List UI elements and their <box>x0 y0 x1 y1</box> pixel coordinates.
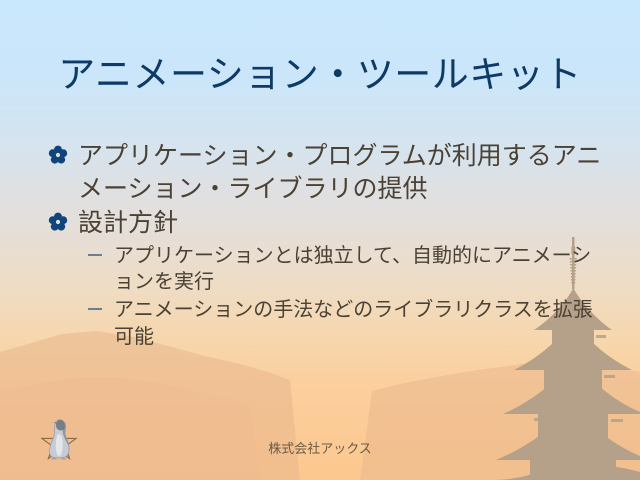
bullet-item-level2: アプリケーションとは独立して、自動的にアニメーションを実行 <box>46 242 602 295</box>
bullet-item-level2: アニメーションの手法などのライブラリクラスを拡張可能 <box>46 296 602 349</box>
bullet-text: アプリケーション・プログラムが利用するアニメーション・ライブラリの提供 <box>78 140 602 205</box>
slide-title: アニメーション・ツールキット <box>40 54 600 97</box>
penguin-star-logo <box>16 412 102 474</box>
bullet-item-level1: 設計方針 <box>46 207 602 240</box>
presentation-slide: アニメーション・ツールキット アプリケーション・プログラムが利用するアニメーショ… <box>0 0 640 480</box>
flower-bullet-icon <box>48 212 68 232</box>
flower-bullet-icon <box>48 145 68 165</box>
bullet-text: 設計方針 <box>78 207 602 240</box>
hill-silhouette-right <box>360 362 640 480</box>
bullet-text: アプリケーションとは独立して、自動的にアニメーションを実行 <box>114 242 602 295</box>
penguin-icon <box>50 420 69 460</box>
bullet-text: アニメーションの手法などのライブラリクラスを拡張可能 <box>114 296 602 349</box>
dash-bullet-icon <box>88 308 102 310</box>
slide-body: アプリケーション・プログラムが利用するアニメーション・ライブラリの提供 設計方針… <box>46 140 602 349</box>
dash-bullet-icon <box>88 254 102 256</box>
bullet-item-level1: アプリケーション・プログラムが利用するアニメーション・ライブラリの提供 <box>46 140 602 205</box>
